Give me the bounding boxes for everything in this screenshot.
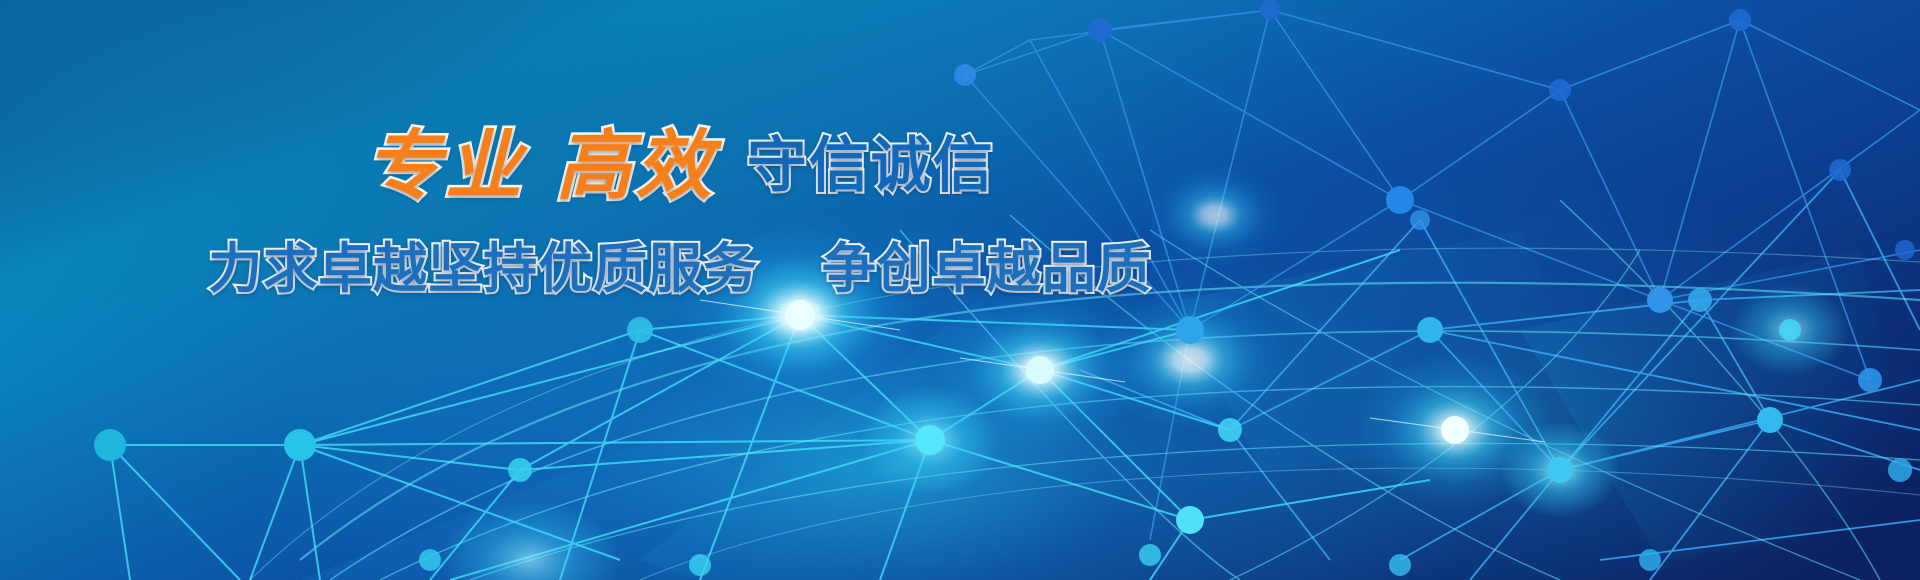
background-gradient <box>0 0 1920 580</box>
hero-banner: 专业 高效 守信诚信 力求卓越坚持优质服务 争创卓越品质 <box>0 0 1920 580</box>
